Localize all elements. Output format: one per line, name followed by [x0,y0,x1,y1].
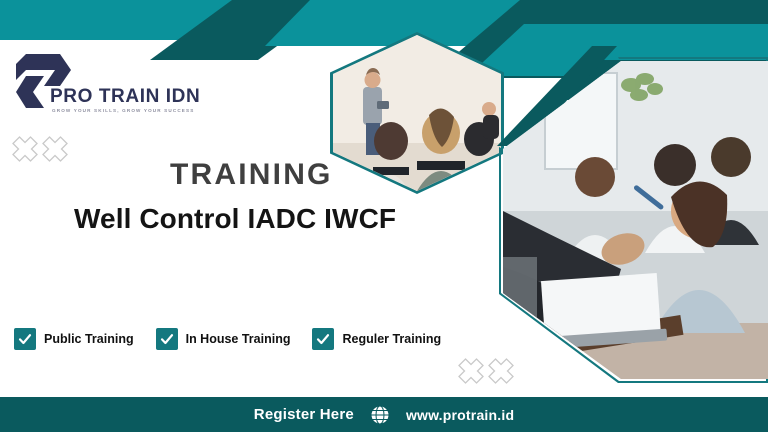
checkbox-checked-icon[interactable] [312,328,334,350]
x-cross-outline-icon [488,358,514,384]
footer-bar: Register Here www.protrain.id [0,397,768,432]
option-label: In House Training [186,332,291,346]
x-cross-outline-icon [12,136,38,162]
training-promo-poster: PRO TRAIN IDN GROW YOUR SKILLS, GROW YOU… [0,0,768,432]
training-type-options: Public Training In House Training Regule… [14,328,463,350]
x-motif-bottom [458,358,514,384]
brand-logo: PRO TRAIN IDN GROW YOUR SKILLS, GROW YOU… [14,50,174,130]
option-public-training[interactable]: Public Training [14,328,134,350]
x-cross-outline-icon [458,358,484,384]
option-reguler-training[interactable]: Reguler Training [312,328,441,350]
check-mark-icon [315,331,331,347]
check-mark-icon [17,331,33,347]
x-cross-outline-icon [42,136,68,162]
globe-icon [370,405,390,425]
check-mark-icon [159,331,175,347]
brand-name: PRO TRAIN IDN [50,86,200,108]
register-here-label[interactable]: Register Here [254,406,354,423]
brand-tagline: GROW YOUR SKILLS, GROW YOUR SUCCESS [52,108,194,113]
website-url[interactable]: www.protrain.id [406,407,514,423]
page-eyebrow-training: TRAINING [170,158,333,192]
page-title: Well Control IADC IWCF [74,203,396,235]
option-label: Reguler Training [342,332,441,346]
option-in-house-training[interactable]: In House Training [156,328,291,350]
x-motif-left [12,136,68,162]
checkbox-checked-icon[interactable] [156,328,178,350]
option-label: Public Training [44,332,134,346]
checkbox-checked-icon[interactable] [14,328,36,350]
